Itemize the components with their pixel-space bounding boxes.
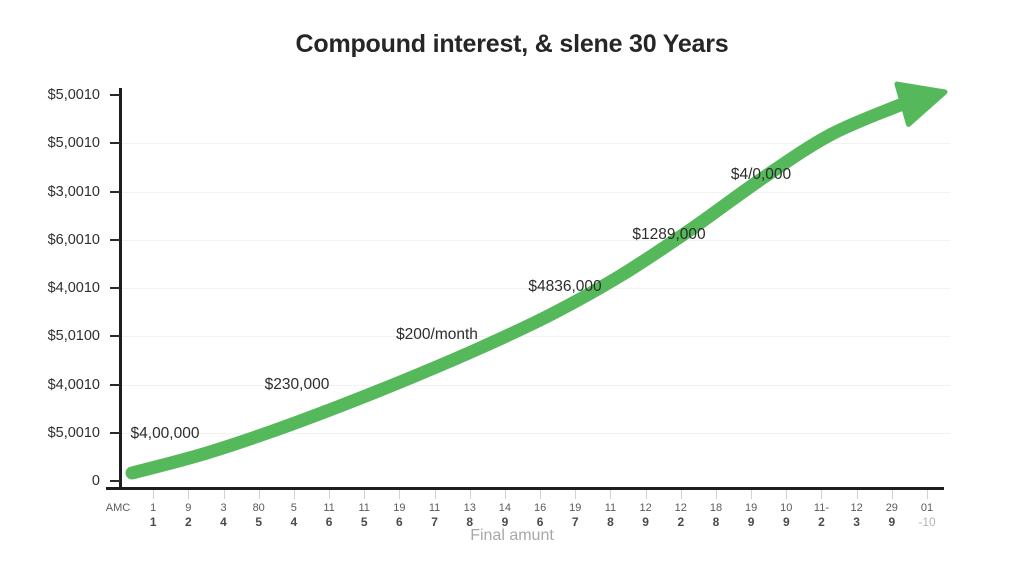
y-axis-tick xyxy=(110,142,120,144)
x-axis-tick xyxy=(329,490,330,499)
x-axis-line xyxy=(106,487,944,490)
gridline xyxy=(120,143,950,144)
y-axis-tick xyxy=(110,94,120,96)
y-axis-tick-label: $4,0010 xyxy=(22,377,100,393)
y-axis-tick xyxy=(110,480,120,482)
y-axis-tick-labels: $5,0010$5,0010$3,0010$6,0010$4,0010$5,01… xyxy=(22,0,100,573)
data-point-label: $4/0,000 xyxy=(731,166,791,184)
x-axis-title: Final amunt xyxy=(0,527,1024,545)
y-axis-tick-label: $5,0010 xyxy=(22,135,100,151)
x-axis-tick xyxy=(610,490,611,499)
y-axis-tick-label: $5,0010 xyxy=(22,87,100,103)
x-axis-tick xyxy=(821,490,822,499)
x-axis-tick xyxy=(435,490,436,499)
x-axis-tick xyxy=(575,490,576,499)
chart-title: Compound interest, & slene 30 Years xyxy=(0,30,1024,59)
x-axis-tick xyxy=(294,490,295,499)
x-axis-tick xyxy=(153,490,154,499)
y-axis-line xyxy=(119,88,122,490)
gridline xyxy=(120,192,950,193)
x-axis-tick xyxy=(188,490,189,499)
y-axis-tick xyxy=(110,384,120,386)
x-axis-tick xyxy=(751,490,752,499)
x-axis-tick xyxy=(892,490,893,499)
y-axis-tick-label: $6,0010 xyxy=(22,232,100,248)
gridline xyxy=(120,385,950,386)
y-axis-tick xyxy=(110,287,120,289)
data-point-label: $4836,000 xyxy=(528,278,601,296)
y-axis-tick-label: 0 xyxy=(22,473,100,489)
y-axis-tick xyxy=(110,191,120,193)
gridline xyxy=(120,240,950,241)
y-axis-tick-label: $4,0010 xyxy=(22,280,100,296)
x-axis-tick-label: 01-10 xyxy=(897,501,957,529)
x-axis-tick xyxy=(786,490,787,499)
data-point-label: $1289,000 xyxy=(632,226,705,244)
x-axis-tick xyxy=(716,490,717,499)
x-axis-tick xyxy=(399,490,400,499)
y-axis-tick xyxy=(110,239,120,241)
y-axis-tick-label: $5,0100 xyxy=(22,328,100,344)
chart-container: Compound interest, & slene 30 Years $5,0… xyxy=(0,0,1024,573)
x-axis-tick xyxy=(364,490,365,499)
x-axis-tick xyxy=(646,490,647,499)
y-axis-tick xyxy=(110,335,120,337)
x-axis-tick xyxy=(505,490,506,499)
x-axis-tick xyxy=(259,490,260,499)
x-axis-tick xyxy=(540,490,541,499)
y-axis-tick xyxy=(110,432,120,434)
y-axis-tick-label: $3,0010 xyxy=(22,184,100,200)
x-axis-tick xyxy=(224,490,225,499)
x-axis-tick xyxy=(927,490,928,499)
x-axis-tick xyxy=(857,490,858,499)
data-point-label: $230,000 xyxy=(265,376,330,394)
x-axis-tick xyxy=(470,490,471,499)
y-axis-tick-label: $5,0010 xyxy=(22,425,100,441)
gridline xyxy=(120,336,950,337)
gridline xyxy=(120,433,950,434)
data-point-label: $4,00,000 xyxy=(131,425,200,443)
x-axis-tick xyxy=(681,490,682,499)
data-point-label: $200/month xyxy=(396,326,478,344)
